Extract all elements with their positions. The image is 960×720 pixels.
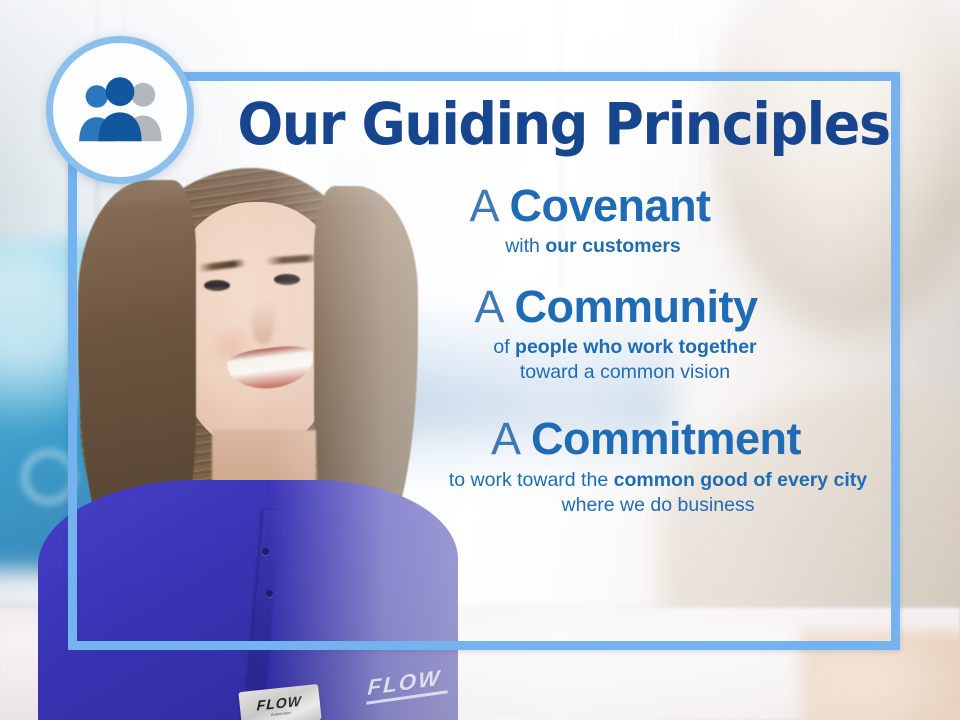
principle-commitment: A Commitment to work toward the common g… <box>300 415 880 518</box>
principle-heading: A Covenant <box>300 182 880 229</box>
guiding-principles-graphic: FLOW Automotive FLOW <box>0 0 960 720</box>
principle-word: Commitment <box>531 413 801 464</box>
principle-word: Covenant <box>510 180 711 231</box>
principle-covenant: A Covenant with our customers <box>300 182 880 259</box>
principle-heading: A Commitment <box>412 415 880 462</box>
principles-list: A Covenant with our customers A Communit… <box>300 182 880 522</box>
principle-body: with our customers <box>300 234 880 259</box>
people-group-badge <box>46 36 194 184</box>
principle-word: Community <box>515 281 758 332</box>
principle-article: A <box>491 413 519 464</box>
principle-heading: A Community <box>352 283 880 330</box>
principle-community: A Community of people who work togethert… <box>300 283 880 385</box>
principle-body: of people who work togethertoward a comm… <box>352 335 880 385</box>
principle-body: to work toward the common good of every … <box>412 468 880 519</box>
principle-article: A <box>469 180 497 231</box>
people-group-icon <box>72 74 168 146</box>
page-title: Our Guiding Principles <box>237 95 832 153</box>
principle-article: A <box>474 281 502 332</box>
